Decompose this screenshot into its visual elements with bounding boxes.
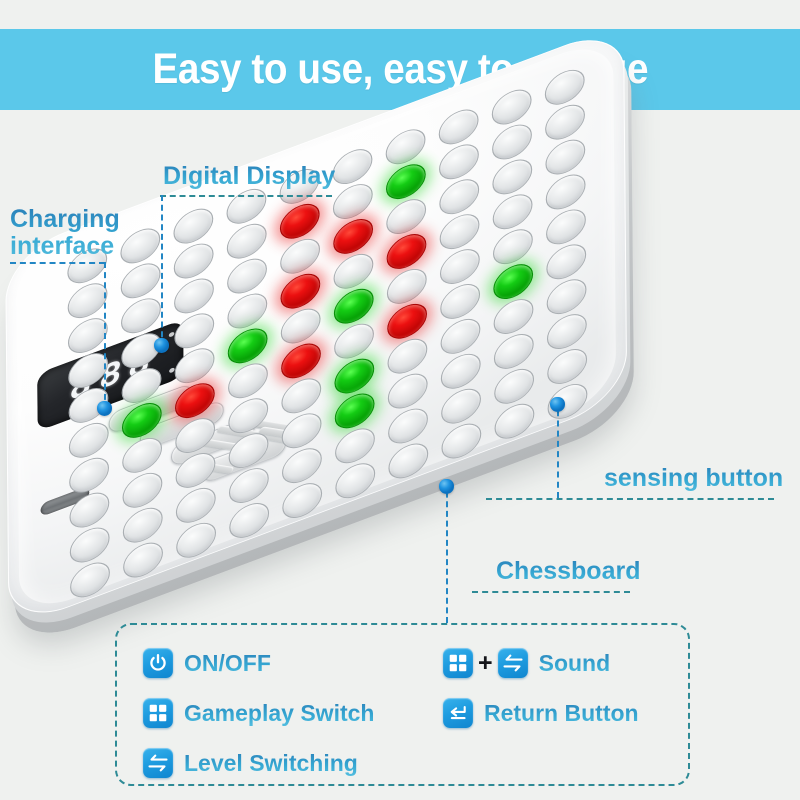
sensing-button-lit-red[interactable] — [281, 338, 321, 384]
sensing-button[interactable] — [440, 243, 480, 289]
sensing-button[interactable] — [439, 104, 479, 150]
sensing-button[interactable] — [70, 522, 110, 568]
sensing-button[interactable] — [492, 119, 532, 165]
legend-label-return-button: Return Button — [484, 700, 639, 727]
swap-icon[interactable] — [143, 748, 173, 778]
leader-dot-charging — [97, 401, 112, 416]
charging-interface-line2: interface — [10, 233, 120, 260]
sensing-button[interactable] — [123, 502, 163, 548]
grid-icon[interactable] — [143, 698, 173, 728]
sensing-button[interactable] — [175, 412, 215, 458]
sensing-button[interactable] — [175, 447, 215, 493]
sensing-button[interactable] — [333, 248, 373, 294]
leader-charging-v — [104, 262, 106, 410]
sensing-button[interactable] — [441, 383, 481, 429]
sensing-button[interactable] — [282, 443, 322, 489]
leader-sensing-h — [486, 498, 774, 500]
sensing-button[interactable] — [69, 417, 109, 463]
sensing-button-lit-red[interactable] — [280, 198, 320, 244]
sensing-button-grid[interactable] — [5, 23, 627, 630]
sensing-button[interactable] — [229, 462, 269, 508]
sensing-button[interactable] — [68, 347, 108, 393]
sensing-button[interactable] — [280, 233, 320, 279]
sensing-button[interactable] — [173, 203, 213, 249]
sensing-button[interactable] — [386, 124, 426, 170]
sensing-button[interactable] — [281, 373, 321, 419]
sensing-button[interactable] — [227, 253, 267, 299]
sensing-button[interactable] — [386, 193, 426, 239]
sensing-button[interactable] — [335, 423, 375, 469]
sensing-button[interactable] — [545, 64, 585, 110]
leader-digital-v — [161, 195, 163, 347]
sensing-button[interactable] — [546, 204, 586, 250]
charging-interface-line1: Charging — [10, 206, 120, 233]
sensing-button[interactable] — [494, 328, 534, 374]
legend-item-on-off[interactable]: ON/OFF — [143, 639, 374, 687]
callout-label-sensing-button: sensing button — [604, 465, 783, 492]
combo-plus-sign: + — [478, 651, 493, 676]
sensing-button-lit-green[interactable] — [386, 159, 426, 205]
leader-dot-sensing — [550, 397, 565, 412]
sensing-button[interactable] — [439, 174, 479, 220]
sensing-button[interactable] — [122, 432, 162, 478]
infographic-stage: 8 8 8 — [0, 110, 800, 800]
sensing-button[interactable] — [388, 368, 428, 414]
legend-label-level-switching: Level Switching — [184, 750, 358, 777]
sensing-button[interactable] — [440, 209, 480, 255]
leader-digital-h — [160, 195, 332, 197]
sensing-button[interactable] — [174, 238, 214, 284]
sensing-button[interactable] — [546, 239, 586, 285]
legend-item-gameplay-switch[interactable]: Gameplay Switch — [143, 689, 374, 737]
sensing-button[interactable] — [547, 274, 587, 320]
leader-dot-chessboard — [439, 479, 454, 494]
sensing-button[interactable] — [545, 134, 585, 180]
sensing-button[interactable] — [387, 263, 427, 309]
sensing-button[interactable] — [547, 343, 587, 389]
device-top-face: 8 8 8 — [5, 23, 627, 630]
sensing-button-lit-green[interactable] — [334, 353, 374, 399]
sensing-button[interactable] — [120, 223, 160, 269]
sensing-button[interactable] — [439, 139, 479, 185]
leader-chessboard-v — [446, 482, 448, 623]
sensing-button[interactable] — [492, 84, 532, 130]
sensing-button[interactable] — [69, 487, 109, 533]
leader-charging-h — [10, 262, 105, 264]
sensing-button[interactable] — [121, 293, 161, 339]
sensing-button-lit-green[interactable] — [228, 323, 268, 369]
sensing-button[interactable] — [174, 308, 214, 354]
leader-dot-digital — [154, 338, 169, 353]
sensing-button[interactable] — [176, 482, 216, 528]
legend-column-right: + Sound Return Button — [443, 639, 639, 739]
sensing-button[interactable] — [174, 273, 214, 319]
sensing-button[interactable] — [546, 169, 586, 215]
sensing-button[interactable] — [334, 318, 374, 364]
sensing-button[interactable] — [332, 143, 372, 189]
sensing-button[interactable] — [175, 343, 215, 389]
sensing-button[interactable] — [281, 303, 321, 349]
leader-sensing-v — [557, 400, 559, 498]
sensing-button-lit-red[interactable] — [333, 213, 373, 259]
power-icon[interactable] — [143, 648, 173, 678]
sensing-button[interactable] — [282, 408, 322, 454]
swap-icon-sound-combo[interactable] — [498, 648, 528, 678]
grid-icon-sound-combo[interactable] — [443, 648, 473, 678]
sensing-button[interactable] — [227, 218, 267, 264]
sensing-button-lit-green[interactable] — [335, 388, 375, 434]
sensing-button[interactable] — [121, 258, 161, 304]
sensing-button[interactable] — [228, 358, 268, 404]
legend-label-gameplay-switch: Gameplay Switch — [184, 700, 374, 727]
legend-item-sound[interactable]: + Sound — [443, 639, 639, 687]
device-illustration: 8 8 8 — [30, 140, 770, 610]
sensing-button[interactable] — [226, 183, 266, 229]
callout-label-chessboard: Chessboard — [496, 558, 640, 585]
sensing-button-lit-green[interactable] — [122, 397, 162, 443]
sensing-button[interactable] — [492, 154, 532, 200]
sensing-button[interactable] — [440, 313, 480, 359]
sensing-button[interactable] — [545, 99, 585, 145]
sensing-button[interactable] — [494, 363, 534, 409]
sensing-button[interactable] — [69, 452, 109, 498]
sensing-button[interactable] — [547, 308, 587, 354]
callout-label-digital-display: Digital Display — [163, 163, 335, 190]
legend-column-left: ON/OFF Gameplay Switch — [143, 639, 374, 789]
sensing-button[interactable] — [333, 178, 373, 224]
return-icon[interactable] — [443, 698, 473, 728]
sensing-button[interactable] — [122, 362, 162, 408]
sensing-button[interactable] — [388, 403, 428, 449]
header-band: Easy to use, easy to charge — [0, 29, 800, 110]
sensing-button[interactable] — [68, 312, 108, 358]
legend-label-sound: Sound — [539, 650, 611, 677]
sensing-button[interactable] — [227, 288, 267, 334]
legend-item-level-switching[interactable]: Level Switching — [143, 739, 374, 787]
sensing-button[interactable] — [122, 467, 162, 513]
sensing-button-lit-red[interactable] — [386, 228, 426, 274]
sensing-button[interactable] — [493, 224, 533, 270]
sensing-button[interactable] — [441, 348, 481, 394]
sensing-button[interactable] — [68, 278, 108, 324]
legend-item-return-button[interactable]: Return Button — [443, 689, 639, 737]
sensing-button[interactable] — [387, 333, 427, 379]
sensing-button-lit-red[interactable] — [387, 298, 427, 344]
legend-label-on-off: ON/OFF — [184, 650, 271, 677]
sensing-button[interactable] — [493, 293, 533, 339]
sensing-button[interactable] — [229, 427, 269, 473]
sensing-button[interactable] — [440, 278, 480, 324]
callout-label-charging-interface: Charging interface — [10, 206, 120, 259]
sensing-button-lit-green[interactable] — [493, 258, 533, 304]
sensing-button[interactable] — [493, 189, 533, 235]
sensing-button-lit-red[interactable] — [175, 377, 215, 423]
legend-box: ON/OFF Gameplay Switch — [115, 623, 690, 786]
sensing-button-lit-red[interactable] — [280, 268, 320, 314]
sensing-button[interactable] — [228, 393, 268, 439]
sensing-button-lit-green[interactable] — [334, 283, 374, 329]
leader-chessboard-h — [472, 591, 630, 593]
game-console-body: 8 8 8 — [5, 23, 627, 630]
